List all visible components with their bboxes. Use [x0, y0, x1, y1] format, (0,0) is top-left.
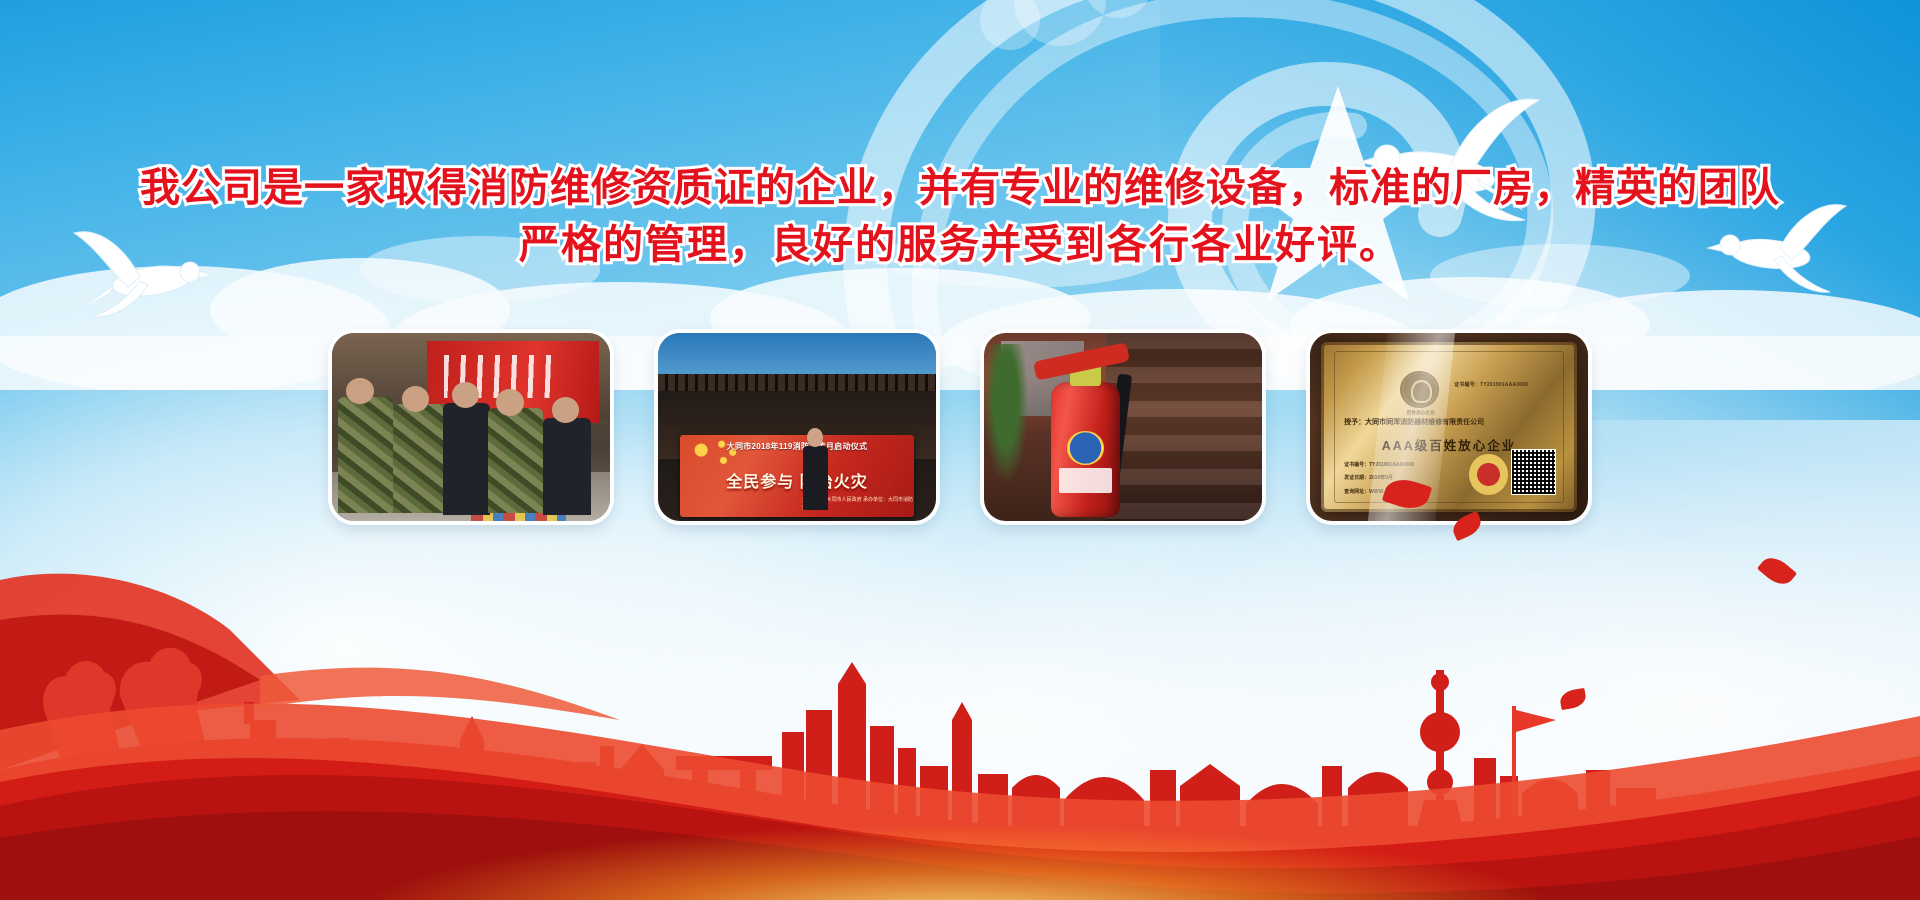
- photo-aaa-plaque: 百姓放心企业 证书编号：TY201901AAA0008 授予：大同市同浑消防器材…: [1310, 333, 1588, 521]
- photo1-soldier-2: [393, 404, 449, 513]
- photo2-speaker-person: [803, 446, 828, 510]
- photo1-head-2: [402, 386, 430, 412]
- photo-fire-extinguisher: [984, 333, 1262, 521]
- gallery-item-119-ceremony[interactable]: 大同市2018年119消防宣传月启动仪式 全民参与 防治火灾 主办单位：大同市人…: [658, 333, 936, 521]
- photo3-plant: [984, 344, 1028, 483]
- plaque-stamp-icon: [1469, 454, 1507, 495]
- photo2-temple-roof: [658, 374, 936, 391]
- gallery-item-aaa-plaque[interactable]: 百姓放心企业 证书编号：TY201901AAA0008 授予：大同市同浑消防器材…: [1310, 333, 1588, 521]
- page-title: 我公司是一家取得消防维修资质证的企业，并有专业的维修设备，标准的厂房，精英的团队…: [0, 160, 1920, 274]
- plaque-award-to: 授予：大同市同浑消防器材维修有限责任公司: [1344, 417, 1561, 427]
- photo-officials-inspection: [332, 333, 610, 521]
- plaque-award-title: AAA级百姓放心企业: [1321, 435, 1577, 454]
- photo3-extinguisher-badge-icon: [1067, 431, 1103, 465]
- photo2-banner-top-text: 大同市2018年119消防宣传月启动仪式: [680, 441, 914, 452]
- photo1-soldier-1: [338, 397, 394, 514]
- headline-line-2: 严格的管理，良好的服务并受到各行各业好评。: [0, 217, 1920, 274]
- banner-stage: 我公司是一家取得消防维修资质证的企业，并有专业的维修设备，标准的厂房，精英的团队…: [0, 0, 1920, 900]
- photo1-official-1: [443, 403, 490, 516]
- photo-119-launch-ceremony: 大同市2018年119消防宣传月启动仪式 全民参与 防治火灾 主办单位：大同市人…: [658, 333, 936, 521]
- plaque-qr-code-icon: [1511, 449, 1556, 495]
- photo1-head-1: [346, 378, 374, 404]
- photo2-stage-banner: 大同市2018年119消防宣传月启动仪式 全民参与 防治火灾 主办单位：大同市人…: [680, 435, 914, 518]
- gallery-item-fire-extinguisher[interactable]: [984, 333, 1262, 521]
- plaque-cert-no-top: 证书编号：TY201901AAA0008: [1454, 381, 1528, 388]
- gallery-item-officials-inspection[interactable]: [332, 333, 610, 521]
- photo3-shelf: [1106, 333, 1262, 521]
- photo1-soldier-3: [488, 408, 544, 513]
- photo1-head-4: [496, 389, 524, 415]
- photo-gallery: 大同市2018年119消防宣传月启动仪式 全民参与 防治火灾 主办单位：大同市人…: [0, 333, 1920, 523]
- photo1-official-2: [543, 418, 590, 516]
- photo2-banner-main-text: 全民参与 防治火灾: [680, 468, 914, 492]
- photo3-extinguisher-label: [1059, 468, 1112, 492]
- headline-line-1: 我公司是一家取得消防维修资质证的企业，并有专业的维修设备，标准的厂房，精英的团队: [0, 160, 1920, 217]
